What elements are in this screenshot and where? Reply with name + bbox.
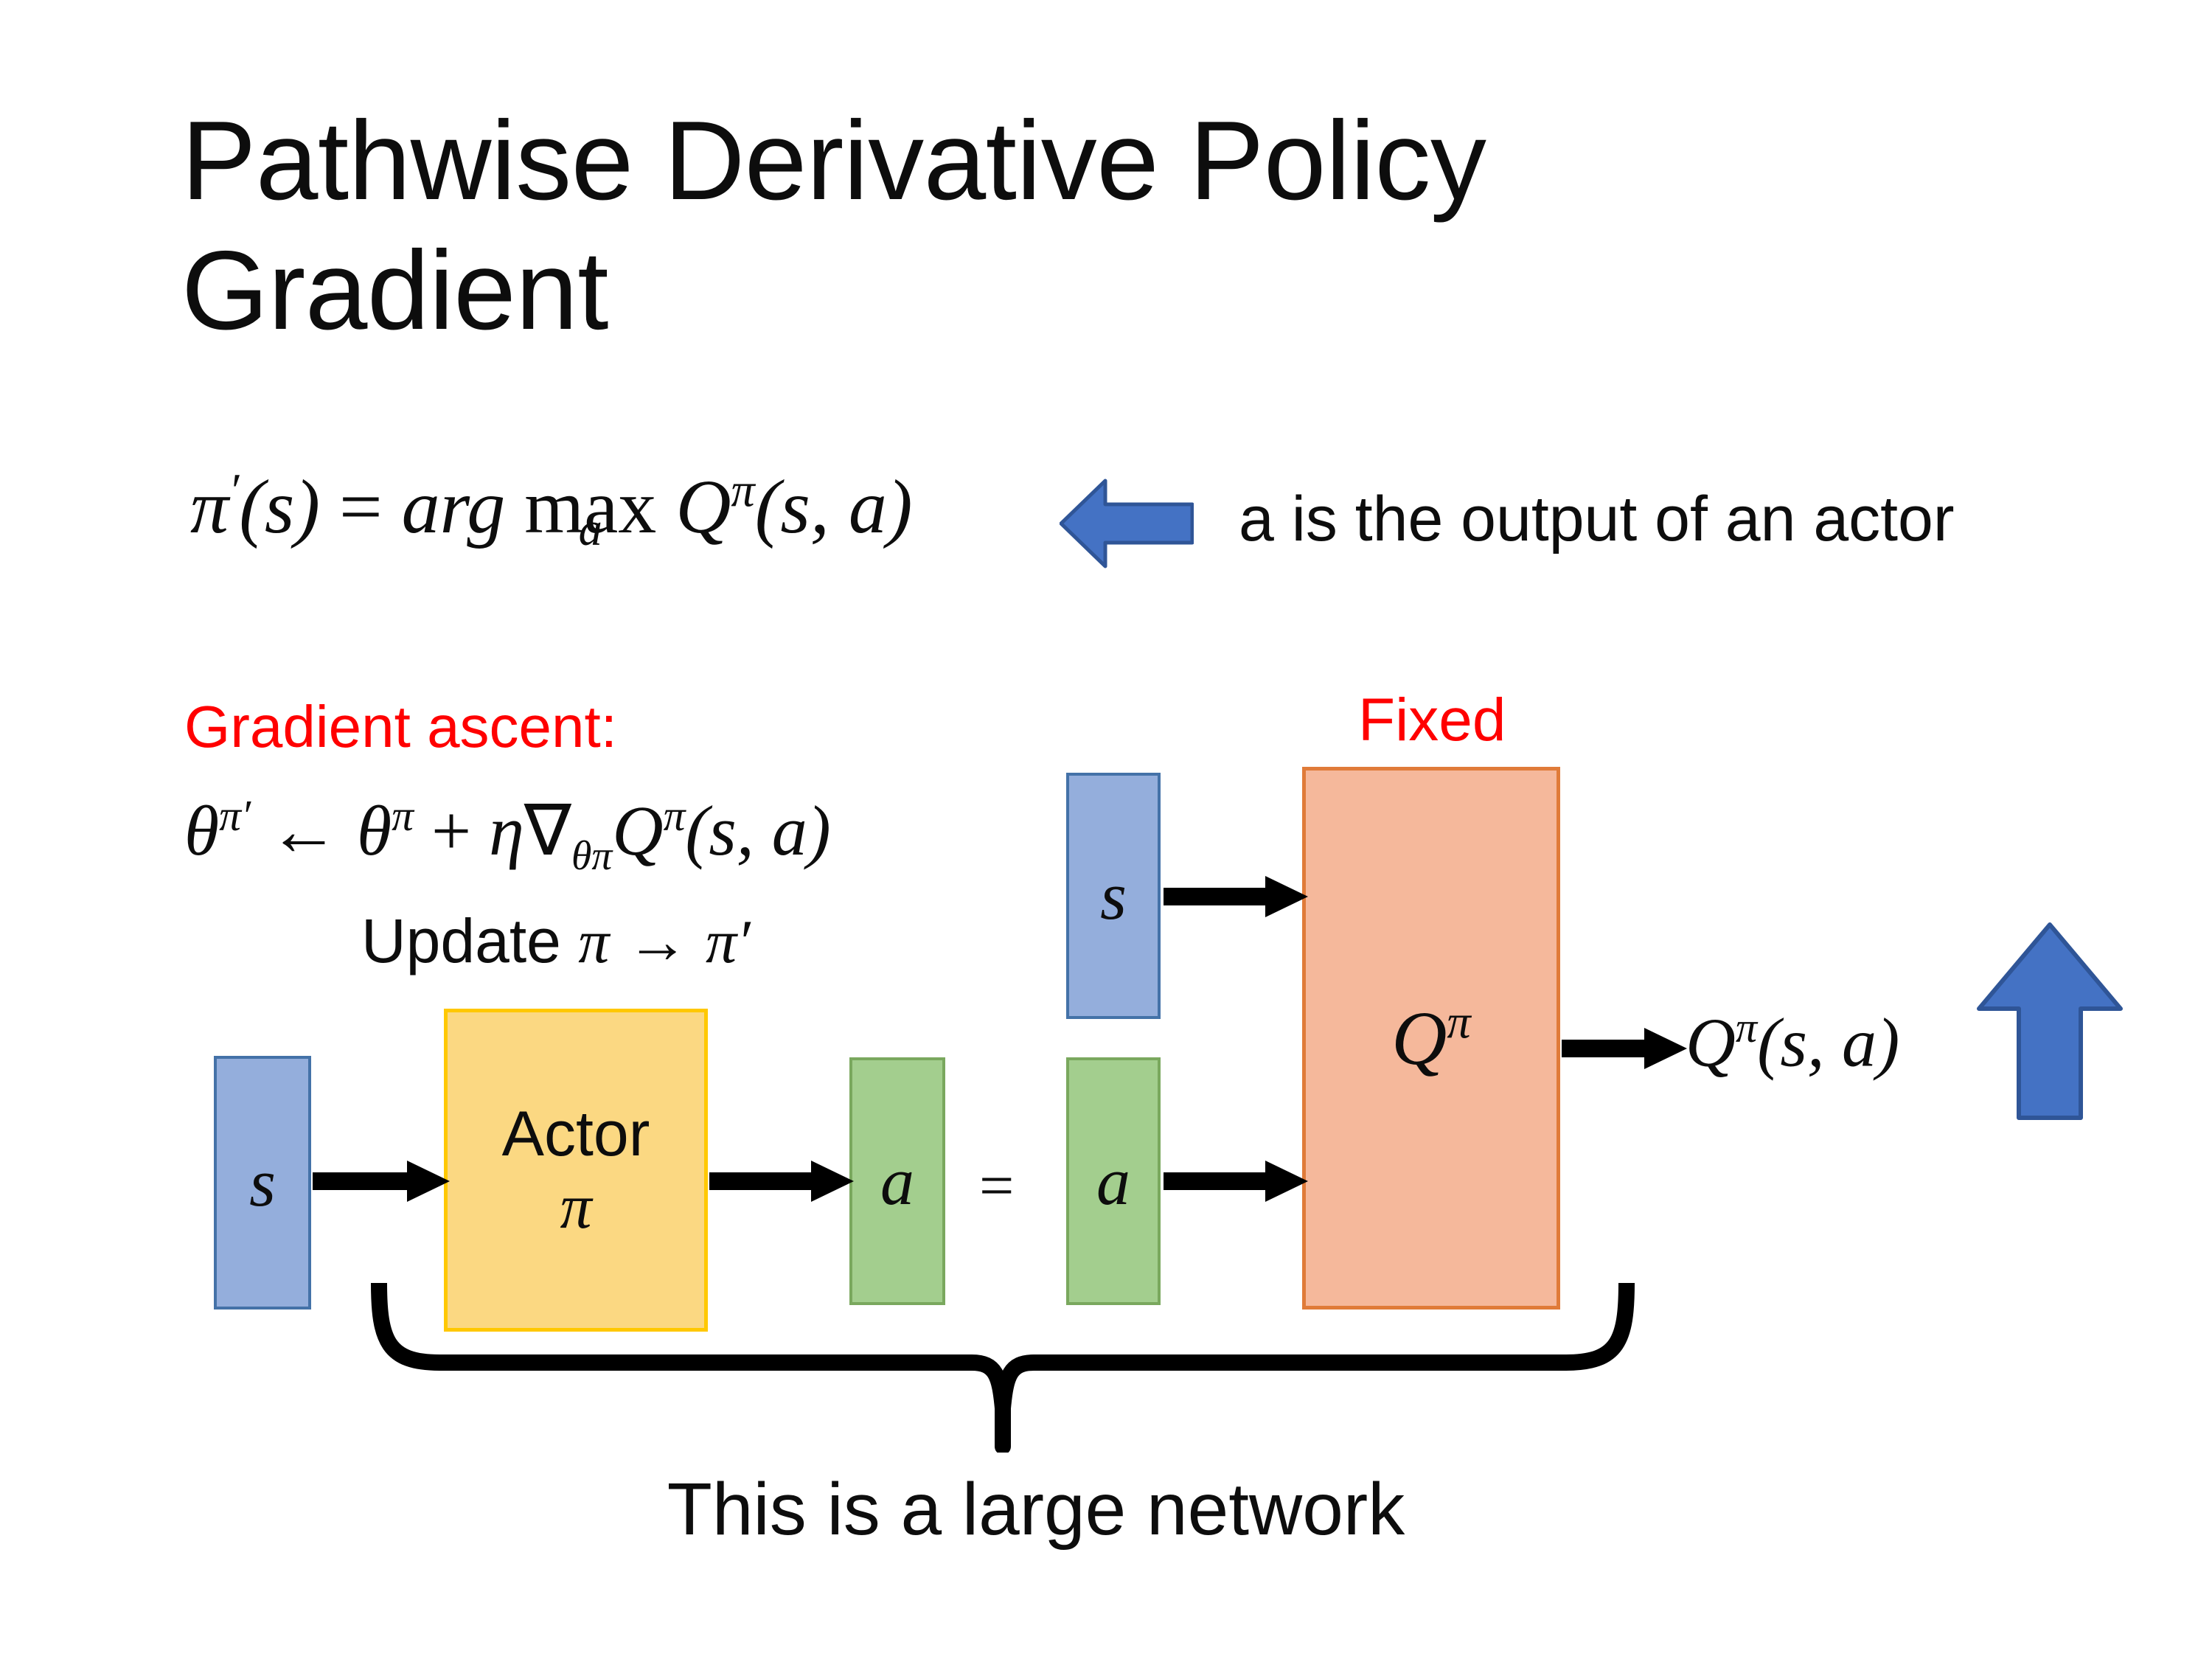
note-actor-output: a is the output of an actor [1239, 483, 1955, 556]
argmax-q-superscript: π [731, 464, 754, 516]
box-action-left: a [849, 1057, 945, 1305]
box-state-right-label: s [1100, 857, 1127, 935]
arrow-up-icon [1976, 922, 2124, 1121]
grad-q-sup: π [664, 791, 686, 840]
argmax-prime: ′ [229, 464, 239, 516]
update-word: Update [361, 906, 561, 975]
output-q: Q [1686, 1004, 1736, 1081]
arrow-right-icon-state-to-actor [313, 1159, 450, 1203]
argmax-q: Q [675, 465, 731, 549]
update-pi-prime: π′ [706, 908, 750, 976]
argmax-lhs-arg: (s) [239, 465, 320, 549]
label-fixed: Fixed [1358, 686, 1506, 755]
update-arrow: → [627, 906, 689, 975]
equation-argmax: π′(s) = arg max a Qπ(s, a) [190, 463, 912, 551]
grad-theta2: θ [357, 791, 392, 870]
box-actor-label: Actor [502, 1098, 650, 1170]
label-update-policy: Update π → π′ [361, 905, 750, 978]
equation-q-output: Qπ(s, a) [1686, 1003, 1899, 1082]
output-q-superscript: π [1736, 1004, 1757, 1051]
argmax-max-subscript: a [524, 502, 656, 557]
box-critic-q-superscript: π [1447, 995, 1470, 1048]
box-actor-text: Actor π [502, 1098, 650, 1242]
argmax-pi: π [190, 465, 229, 549]
grad-left-arrow: ← [268, 791, 339, 870]
grad-q-arg: (s, a) [685, 791, 830, 870]
grad-theta-prime: ′ [241, 791, 251, 840]
grad-plus: + [431, 791, 471, 870]
grad-theta: θ [184, 791, 219, 870]
output-q-arg: (s, a) [1757, 1004, 1899, 1081]
grad-nabla-sub-theta: θ [571, 833, 591, 879]
arrow-right-icon-state-to-q [1164, 874, 1308, 919]
box-state-left: s [214, 1056, 311, 1310]
box-actor-symbol: π [502, 1170, 650, 1242]
grad-eta: η [489, 791, 524, 870]
grad-theta2-sup: π [392, 791, 414, 840]
box-critic-q-text: Qπ [1391, 995, 1470, 1082]
equation-gradient-ascent: θπ′ ← θπ + η∇θπQπ(s, a) [184, 789, 831, 880]
grad-nabla: ∇ [524, 791, 571, 870]
argmax-q-arg: (s, a) [755, 465, 913, 549]
argmax-equals: = [339, 465, 383, 549]
box-critic-q-label: Q [1391, 996, 1447, 1081]
grad-q: Q [612, 791, 663, 870]
box-action-left-label: a [880, 1142, 914, 1220]
box-critic-q: Qπ [1302, 767, 1560, 1310]
box-action-right: a [1066, 1057, 1161, 1305]
argmax-max-group: max a [524, 463, 656, 551]
update-pi: π [578, 908, 609, 976]
arrow-left-icon [1060, 478, 1194, 569]
page-title: Pathwise Derivative Policy Gradient [181, 96, 1877, 356]
slide-canvas: Pathwise Derivative Policy Gradient π′(s… [0, 0, 2212, 1659]
arrow-right-icon-actor-to-action [709, 1159, 854, 1203]
grad-theta-sup: π [219, 791, 241, 840]
grad-nabla-sub-pi: π [591, 833, 612, 879]
box-action-right-label: a [1096, 1142, 1130, 1220]
caption-large-network: This is a large network [0, 1467, 2072, 1552]
curly-brace-icon [369, 1283, 1637, 1453]
argmax-arg: arg [402, 465, 506, 549]
label-gradient-ascent: Gradient ascent: [184, 693, 617, 761]
arrow-right-icon-q-to-output [1562, 1026, 1687, 1071]
box-state-left-label: s [249, 1144, 276, 1222]
equals-sign: = [979, 1150, 1014, 1222]
box-state-right: s [1066, 773, 1161, 1019]
arrow-right-icon-action-to-q [1164, 1159, 1308, 1203]
